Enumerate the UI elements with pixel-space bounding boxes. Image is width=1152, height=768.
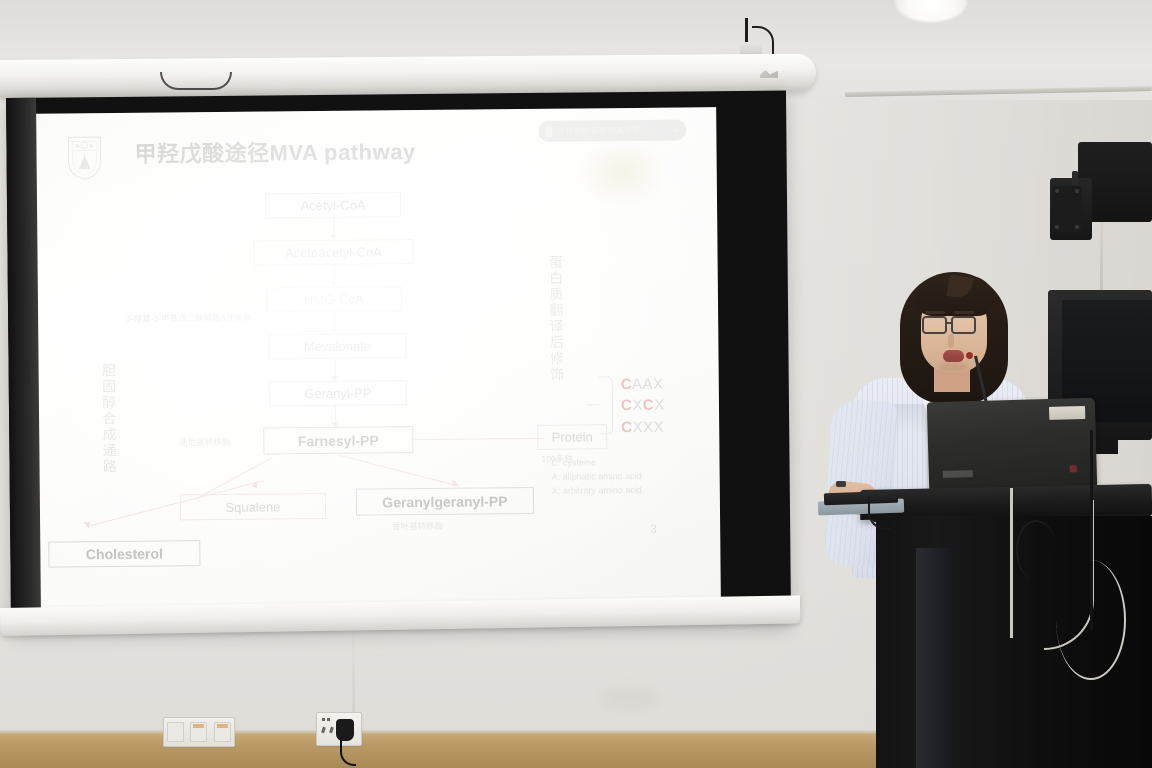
eyebrow-right	[954, 311, 974, 314]
node-label: Farnesyl-PP	[298, 432, 379, 449]
node-acetoacetyl-coa: Acetoacetyl-CoA	[253, 239, 413, 266]
node-label: Geranylgeranyl-PP	[382, 493, 507, 510]
motif-rest: AAX	[632, 376, 664, 393]
laptop-logo-icon	[943, 470, 973, 478]
node-label: Geranyl-PP	[304, 386, 371, 402]
laptop-indicator-icon	[1070, 465, 1077, 472]
node-acetyl-coa: Acetyl-CoA	[265, 192, 401, 218]
node-protein: Protein	[537, 424, 607, 450]
motif-x: X	[654, 397, 665, 414]
annotation-farnesyl-transferase: 法尼基转移酶	[179, 436, 230, 448]
legend-line: X: arbitrary amino acid	[552, 484, 642, 499]
speaker-stud	[1072, 171, 1078, 185]
legend-line: A: aliphatic amino acid	[552, 470, 642, 485]
annotation-geranylgeranyl-transferase: 香叶基转移酶	[392, 520, 443, 532]
speaker-wire	[1100, 222, 1103, 292]
motif-rest: XXX	[632, 418, 664, 435]
recording-notification[interactable]: 正在录制 医学院高干学… ▸	[538, 119, 686, 141]
projection-screen: 甲羟戊酸途径MVA pathway 正在录制 医学院高干学… ▸ 胆固醇合成通路…	[6, 91, 791, 630]
monitor-cable	[1010, 488, 1013, 638]
node-cholesterol: Cholesterol	[48, 540, 200, 567]
motif-c: C	[643, 397, 655, 414]
slide-title-cn: 甲羟戊酸途径	[134, 140, 269, 166]
eyeglasses-left-lens	[922, 316, 947, 334]
chevron-right-icon[interactable]: ▸	[675, 126, 679, 135]
motif-cxcx: CXCX	[621, 395, 665, 417]
brand-logo-icon	[760, 70, 778, 78]
cable-coil	[1056, 560, 1126, 680]
motif-c: C	[621, 419, 633, 436]
node-geranylgeranyl-pp: Geranylgeranyl-PP	[356, 487, 534, 516]
speaker-mount-plate	[1052, 186, 1082, 232]
right-vertical-label: 蛋白质翻译后修饰	[546, 255, 568, 383]
slide-page-number: 3	[650, 522, 657, 536]
node-label: Squalene	[225, 499, 280, 515]
caax-motifs: CAAX CXCX CXXX	[621, 374, 665, 438]
wall-smudge	[600, 690, 660, 706]
node-hmg-coa: HMG-CoA	[266, 286, 402, 312]
node-label: HMG-CoA	[304, 292, 364, 308]
lips	[943, 350, 964, 362]
motif-caax: CAAX	[621, 374, 665, 396]
lectern-column	[916, 548, 952, 768]
projected-slide: 甲羟戊酸途径MVA pathway 正在录制 医学院高干学… ▸ 胆固醇合成通路…	[36, 107, 721, 610]
node-label: Mevalonate	[304, 339, 371, 355]
motif-legend: C: cysteine A: aliphatic amino acid X: a…	[551, 456, 641, 499]
light-switch-panel[interactable]	[163, 717, 235, 747]
node-label: Cholesterol	[86, 546, 163, 563]
eyebrow-left	[925, 311, 945, 314]
switch-key[interactable]	[214, 722, 231, 742]
university-crest-icon	[66, 135, 102, 181]
switch-key[interactable]	[190, 722, 207, 742]
arrow-to-geranylgeranyl	[339, 455, 459, 487]
projector-hotspot	[577, 148, 668, 209]
microphone-icon	[545, 126, 552, 136]
motif-cxxx: CXXX	[621, 416, 665, 438]
arrow-to-protein	[413, 438, 543, 440]
hanging-cable	[160, 72, 232, 90]
left-vertical-label: 胆固醇合成通路	[99, 363, 120, 475]
arrow-head	[84, 519, 93, 528]
motif-brace	[599, 376, 614, 434]
slide-content: 甲羟戊酸途径MVA pathway 正在录制 医学院高干学… ▸ 胆固醇合成通路…	[36, 107, 721, 610]
motif-c: C	[621, 376, 633, 393]
node-label: Protein	[552, 429, 593, 444]
switch-key[interactable]	[167, 722, 184, 742]
laptop-asset-label	[1049, 406, 1085, 420]
motif-c: C	[621, 397, 633, 414]
eyeglasses-right-lens	[951, 316, 976, 334]
eyeglasses-bridge	[946, 322, 952, 324]
annotation-hmg-reductase: 3-羟基-3-甲基戊二酰辅酶A还原酶	[126, 312, 252, 325]
slide-title: 甲羟戊酸途径MVA pathway	[134, 134, 415, 169]
slide-title-en: MVA pathway	[269, 139, 415, 165]
lecture-room-scene: 甲羟戊酸途径MVA pathway 正在录制 医学院高干学… ▸ 胆固醇合成通路…	[0, 0, 1152, 768]
presenter-laptop[interactable]	[927, 398, 1097, 491]
legend-line: C: cysteine	[551, 456, 641, 471]
notification-text: 正在录制 医学院高干学…	[557, 125, 647, 137]
node-label: Acetoacetyl-CoA	[285, 244, 382, 260]
microphone-head-icon	[966, 352, 973, 359]
node-geranyl-pp: Geranyl-PP	[269, 380, 407, 406]
chin-shadow	[938, 362, 968, 372]
cable-coil	[1016, 520, 1056, 580]
node-mevalonate: Mevalonate	[268, 333, 406, 359]
node-farnesyl-pp: Farnesyl-PP	[263, 426, 413, 454]
nose	[948, 334, 954, 348]
motif-x: X	[632, 397, 643, 414]
ring	[836, 481, 846, 487]
node-label: Acetyl-CoA	[300, 198, 365, 214]
